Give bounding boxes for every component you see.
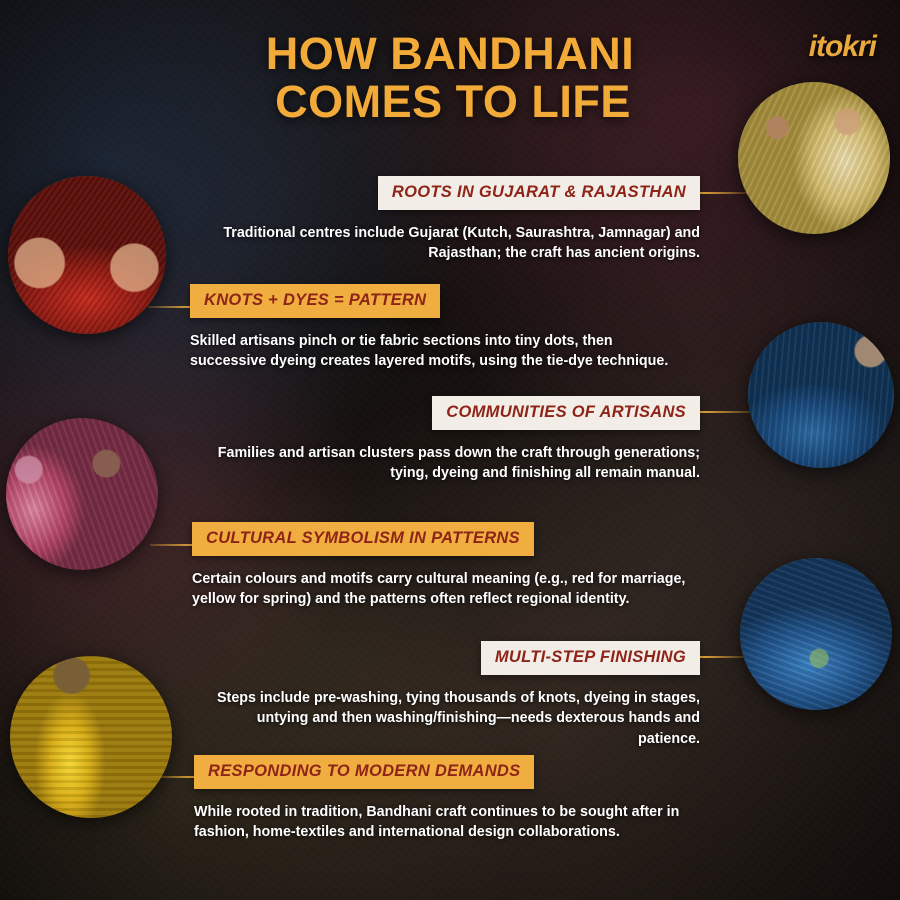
page-title-line-1: HOW BANDHANI <box>0 30 900 78</box>
photo-frame <box>748 322 894 468</box>
section-label: CULTURAL SYMBOLISM IN PATTERNS <box>192 522 534 556</box>
itokri-logo[interactable]: itokri <box>809 30 876 64</box>
section-body: While rooted in tradition, Bandhani craf… <box>194 802 694 843</box>
section-cultural-symbolism-in-patterns: CULTURAL SYMBOLISM IN PATTERNS Certain c… <box>192 522 692 610</box>
artisan-blue-dye-vat-photo <box>748 322 894 468</box>
section-label: ROOTS IN GUJARAT & RAJASTHAN <box>378 176 700 210</box>
section-body: Certain colours and motifs carry cultura… <box>192 569 692 610</box>
women-knotting-cloth-photo <box>6 418 158 570</box>
section-body: Steps include pre-washing, tying thousan… <box>200 688 700 749</box>
section-label: COMMUNITIES OF ARTISANS <box>432 396 700 430</box>
section-label: RESPONDING TO MODERN DEMANDS <box>194 755 534 789</box>
page-title-line-2: COMES TO LIFE <box>0 78 900 126</box>
section-body: Skilled artisans pinch or tie fabric sec… <box>190 331 690 372</box>
section-body: Families and artisan clusters pass down … <box>200 443 700 484</box>
hands-tying-red-fabric-photo <box>8 176 166 334</box>
dyer-lifting-yellow-fabric-photo <box>10 656 172 818</box>
indigo-dye-vat-photo <box>740 558 892 710</box>
section-label: MULTI-STEP FINISHING <box>481 641 700 675</box>
photo-frame <box>6 418 158 570</box>
photo-frame <box>8 176 166 334</box>
section-responding-to-modern-demands: RESPONDING TO MODERN DEMANDS While roote… <box>194 755 694 843</box>
photo-frame <box>740 558 892 710</box>
section-multi-step-finishing: MULTI-STEP FINISHING Steps include pre-w… <box>200 641 700 749</box>
section-roots-in-gujarat-rajasthan: ROOTS IN GUJARAT & RAJASTHAN Traditional… <box>200 176 700 264</box>
photo-frame <box>10 656 172 818</box>
infographic-canvas: HOW BANDHANI COMES TO LIFE itokri ROOTS … <box>0 0 900 900</box>
section-label: KNOTS + DYES = PATTERN <box>190 284 440 318</box>
section-communities-of-artisans: COMMUNITIES OF ARTISANS Families and art… <box>200 396 700 484</box>
section-body: Traditional centres include Gujarat (Kut… <box>200 223 700 264</box>
section-knots-dyes-pattern: KNOTS + DYES = PATTERN Skilled artisans … <box>190 284 690 372</box>
page-title: HOW BANDHANI COMES TO LIFE <box>0 30 900 125</box>
